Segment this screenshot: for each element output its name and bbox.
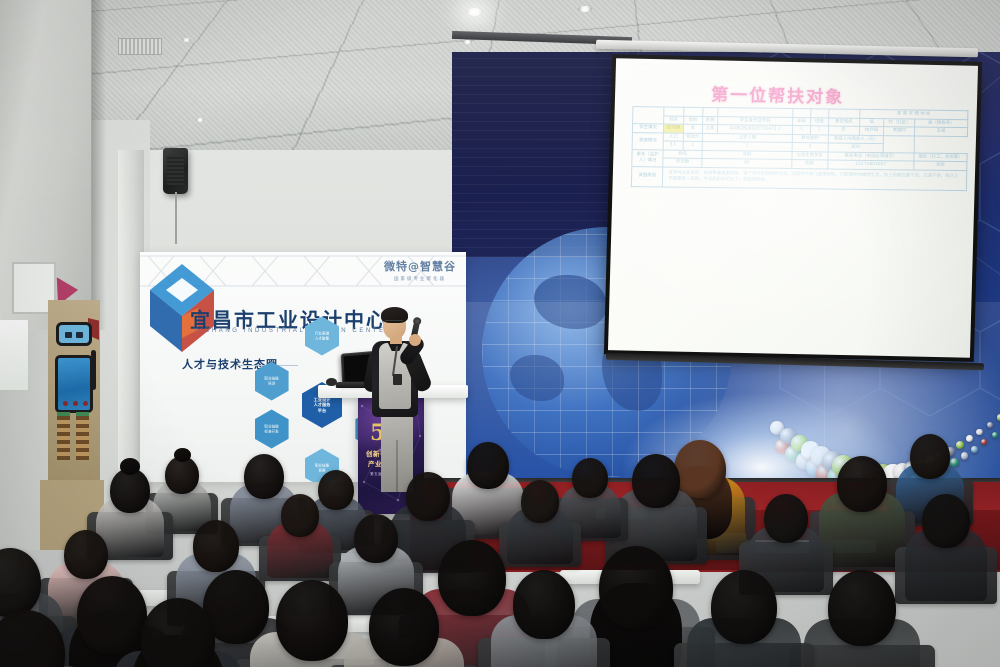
slide-table-cell (828, 109, 859, 118)
slide-student-header: 性别 (683, 116, 703, 125)
audience-member-head (521, 480, 559, 523)
robot-eye-left-icon (65, 332, 72, 338)
slide-canvas: 第一位帮扶对象 家 庭 详 细 地 址姓名性别民族学生身份证号码年级班级是否残疾… (608, 58, 978, 357)
slide-student-value: 土家 (703, 124, 718, 133)
presenter-hand (409, 334, 421, 346)
slide-student-value: 纪习妍 (664, 124, 684, 133)
audience-member-head (77, 576, 147, 654)
audience-member-head (64, 530, 108, 579)
slide-family-header: 劳动力 (683, 133, 703, 142)
audience-member-head (674, 440, 726, 498)
robot-button-1-icon (63, 401, 68, 406)
slide-address-value: 五组 (915, 127, 968, 136)
presenter-badge (393, 374, 402, 385)
robot-eye-right-icon (76, 332, 83, 338)
slide-table-cell (793, 109, 811, 118)
column-shadow (92, 0, 106, 330)
wall-window (0, 320, 30, 390)
backdrop-fabric-lines (452, 52, 612, 257)
slide-table-row: 贫困原因五岁时父亲去世，母亲带着弟弟改嫁，留下我与奶奶相依为命。因家中只有几亩薄… (631, 166, 966, 190)
audience-member-head (572, 458, 608, 498)
hexagon-node-2: 职业技能培训 (255, 362, 289, 401)
audience-member-head (828, 570, 896, 646)
ceiling-downlight-2 (466, 8, 483, 16)
audience-member-hair-bun (174, 448, 191, 462)
slide-family-header: 人口 (664, 132, 684, 141)
slide-row-label-family: 家庭情况 (632, 132, 664, 149)
slide-family-value: 3人 (663, 141, 683, 150)
corp-logo-block: 微特@智慧谷 国家级专业孵化器 (384, 258, 456, 282)
slide-table-cell (811, 109, 829, 118)
corp-logo-subtext: 国家级专业孵化器 (384, 276, 456, 282)
robot-head-icon (56, 322, 92, 346)
slide-student-value: 否 (828, 126, 859, 135)
slide-address-value: 茶园村 (884, 127, 915, 136)
presenter-glasses-icon (385, 320, 403, 325)
slide-reason-text: 五岁时父亲去世，母亲带着弟弟改嫁，留下我与奶奶相依为命。因家中只有几亩薄田地，只… (663, 166, 967, 190)
audience-member-head (193, 520, 239, 572)
audience-member-head (281, 494, 319, 537)
slide-student-value: 八 (792, 126, 810, 135)
speaker-cable (175, 192, 177, 244)
slide-address-header: 镇 (859, 118, 884, 127)
computer-mouse-icon[interactable] (326, 378, 337, 386)
ceiling-downlight-6 (463, 40, 472, 44)
hexagon-node-label: 职业技能培训 (262, 377, 280, 386)
robot-body-icon (55, 355, 93, 413)
slide-address-value: 柏坪镇 (859, 126, 884, 135)
audience-member-head (318, 470, 354, 510)
ceiling-downlight-5 (196, 118, 204, 122)
slide-row-label-student: 学生情况 (632, 124, 663, 133)
slide-row-label-reason: 贫困原因 (631, 166, 663, 187)
slide-table-cell (633, 107, 665, 124)
slide-student-header: 班级 (810, 117, 828, 126)
slide-family-value: 1 (683, 141, 703, 150)
slide-title: 第一位帮扶对象 (711, 80, 845, 108)
ceiling-downlight-4 (182, 38, 191, 42)
audience-member-head (369, 588, 439, 666)
slide-row-label-guardian: 家长（监护人）情况 (632, 149, 664, 166)
presentation-room-photo: 第一位帮扶对象 家 庭 详 细 地 址姓名性别民族学生身份证号码年级班级是否残疾… (0, 0, 1000, 667)
wall-speaker-icon (163, 148, 188, 194)
corp-logo-text: 微特@智慧谷 (384, 258, 456, 274)
slide-table: 家 庭 详 细 地 址姓名性别民族学生身份证号码年级班级是否残疾镇村（社区）组（… (631, 106, 969, 191)
audience-member-head (599, 546, 673, 629)
air-vent-icon (118, 38, 162, 55)
audience-member-head (467, 442, 509, 489)
slide-student-header: 民族 (703, 116, 718, 125)
slide-table-cell (703, 107, 718, 116)
hexagon-node-label: 工业设计人才服务平台 (312, 397, 333, 412)
audience-member-head (276, 580, 348, 661)
audience-member-head (922, 494, 970, 548)
robot-button-2-icon (73, 401, 78, 406)
projection-screen[interactable]: 第一位帮扶对象 家 庭 详 细 地 址姓名性别民族学生身份证号码年级班级是否残疾… (604, 54, 982, 362)
audience-member-head (764, 494, 808, 543)
audience-member-head (438, 540, 506, 616)
robot-button-3-icon (83, 401, 88, 406)
slide-student-value: 1 (810, 126, 828, 135)
slide-student-header: 是否残疾 (828, 117, 859, 126)
slide-student-header: 姓名 (664, 115, 684, 124)
audience-member-head (354, 514, 398, 563)
slide-table-cell (664, 107, 684, 116)
slide-student-header: 年级 (792, 117, 810, 126)
hexagon-node-label: 行业高端人才聚集 (313, 332, 331, 341)
slide-table-cell (884, 135, 915, 152)
audience-member-head (910, 434, 950, 479)
slide-address-header: 村（社区） (884, 118, 915, 127)
audience-member-head (711, 570, 777, 644)
audience-member-head (837, 456, 887, 512)
audience-member-head (632, 454, 680, 508)
audience-member-head (406, 472, 450, 521)
audience (0, 420, 1000, 667)
slide-table-cell (683, 107, 703, 116)
slide-student-value: 女 (683, 124, 703, 133)
audience-member-head (244, 454, 284, 499)
audience-member-head (513, 570, 575, 639)
